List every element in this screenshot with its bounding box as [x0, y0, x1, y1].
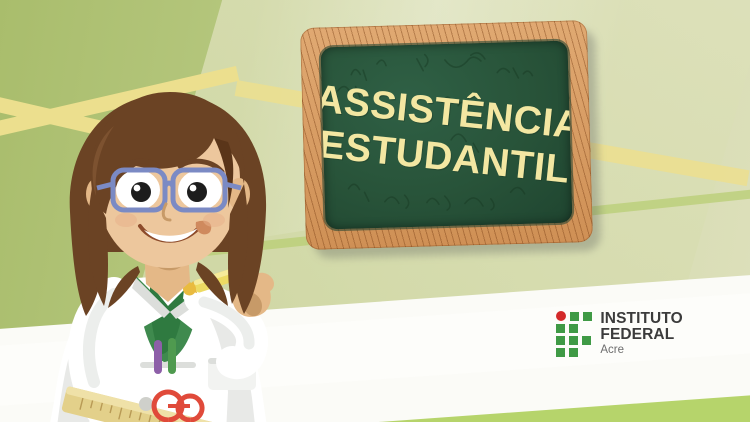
desk-supplies-icon — [128, 382, 248, 422]
logo-institution-name: INSTITUTO FEDERAL — [600, 311, 750, 342]
if-logo-mark-icon — [556, 311, 591, 357]
chalkboard: ASSISTÊNCIA ESTUDANTIL — [300, 20, 593, 250]
chalkboard-title: ASSISTÊNCIA ESTUDANTIL — [321, 41, 573, 230]
chalkboard-surface: ASSISTÊNCIA ESTUDANTIL — [321, 41, 573, 230]
instituto-federal-logo: INSTITUTO FEDERAL Acre — [556, 311, 750, 357]
assistencia-estudantil-banner: ASSISTÊNCIA ESTUDANTIL — [0, 0, 750, 422]
logo-text-block: INSTITUTO FEDERAL Acre — [600, 311, 750, 357]
logo-campus-name: Acre — [600, 345, 750, 357]
teacher-illustration — [18, 62, 318, 422]
